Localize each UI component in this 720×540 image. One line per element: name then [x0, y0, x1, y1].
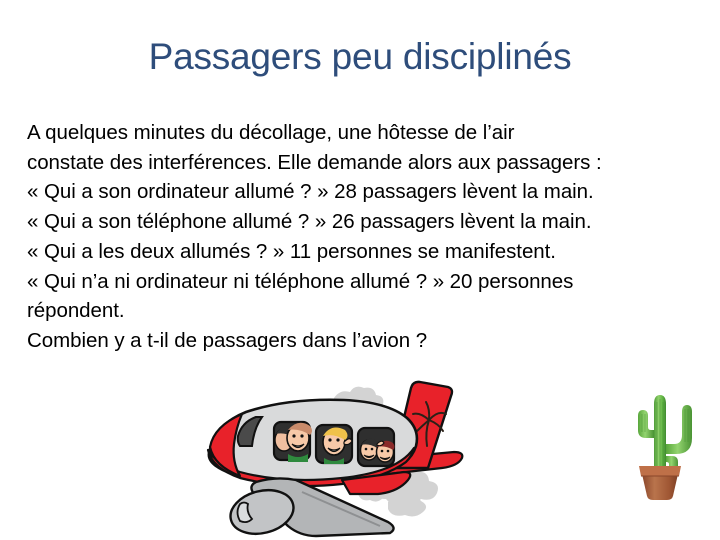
- body-line: « Qui a les deux allumés ? » 11 personne…: [27, 237, 699, 267]
- slide-canvas: Passagers peu disciplinés A quelques min…: [0, 0, 720, 540]
- body-line: Combien y a t-il de passagers dans l’avi…: [27, 326, 699, 356]
- cactus-illustration: [621, 382, 699, 500]
- slide-body-text: A quelques minutes du décollage, une hôt…: [27, 118, 699, 356]
- airplane-illustration: [192, 376, 476, 540]
- cactus-pot: [642, 474, 678, 500]
- body-line: « Qui a son ordinateur allumé ? » 28 pas…: [27, 177, 699, 207]
- body-line: répondent.: [27, 296, 699, 326]
- cactus-arm-left: [638, 410, 654, 438]
- body-line: « Qui a son téléphone allumé ? » 26 pass…: [27, 207, 699, 237]
- body-line: « Qui n’a ni ordinateur ni téléphone all…: [27, 267, 699, 297]
- page-title: Passagers peu disciplinés: [0, 34, 720, 80]
- cactus-pot-rim: [639, 466, 681, 476]
- body-line: constate des interférences. Elle demande…: [27, 148, 699, 178]
- body-line: A quelques minutes du décollage, une hôt…: [27, 118, 699, 148]
